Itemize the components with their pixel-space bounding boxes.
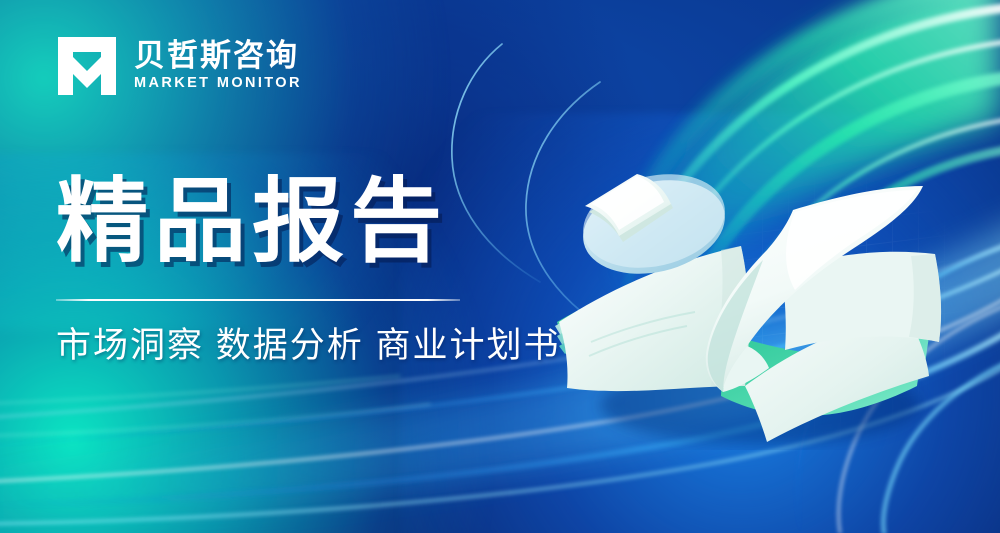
- brand-logo-text: 贝哲斯咨询 MARKET MONITOR: [134, 40, 302, 91]
- headline-block: 精品报告 市场洞察 数据分析 商业计划书: [56, 176, 560, 366]
- page-title: 精品报告: [56, 176, 560, 268]
- page-subtitle: 市场洞察 数据分析 商业计划书: [56, 327, 560, 366]
- brand-name-en: MARKET MONITOR: [134, 76, 302, 92]
- report-banner: 贝哲斯咨询 MARKET MONITOR 精品报告 市场洞察 数据分析 商业计划…: [0, 0, 1000, 533]
- open-book-illustration: [545, 150, 965, 450]
- headline-divider: [56, 299, 460, 301]
- brand-name-cn: 贝哲斯咨询: [134, 40, 302, 73]
- market-monitor-m-monogram-icon: [56, 35, 118, 97]
- brand-logo[interactable]: 贝哲斯咨询 MARKET MONITOR: [56, 35, 302, 97]
